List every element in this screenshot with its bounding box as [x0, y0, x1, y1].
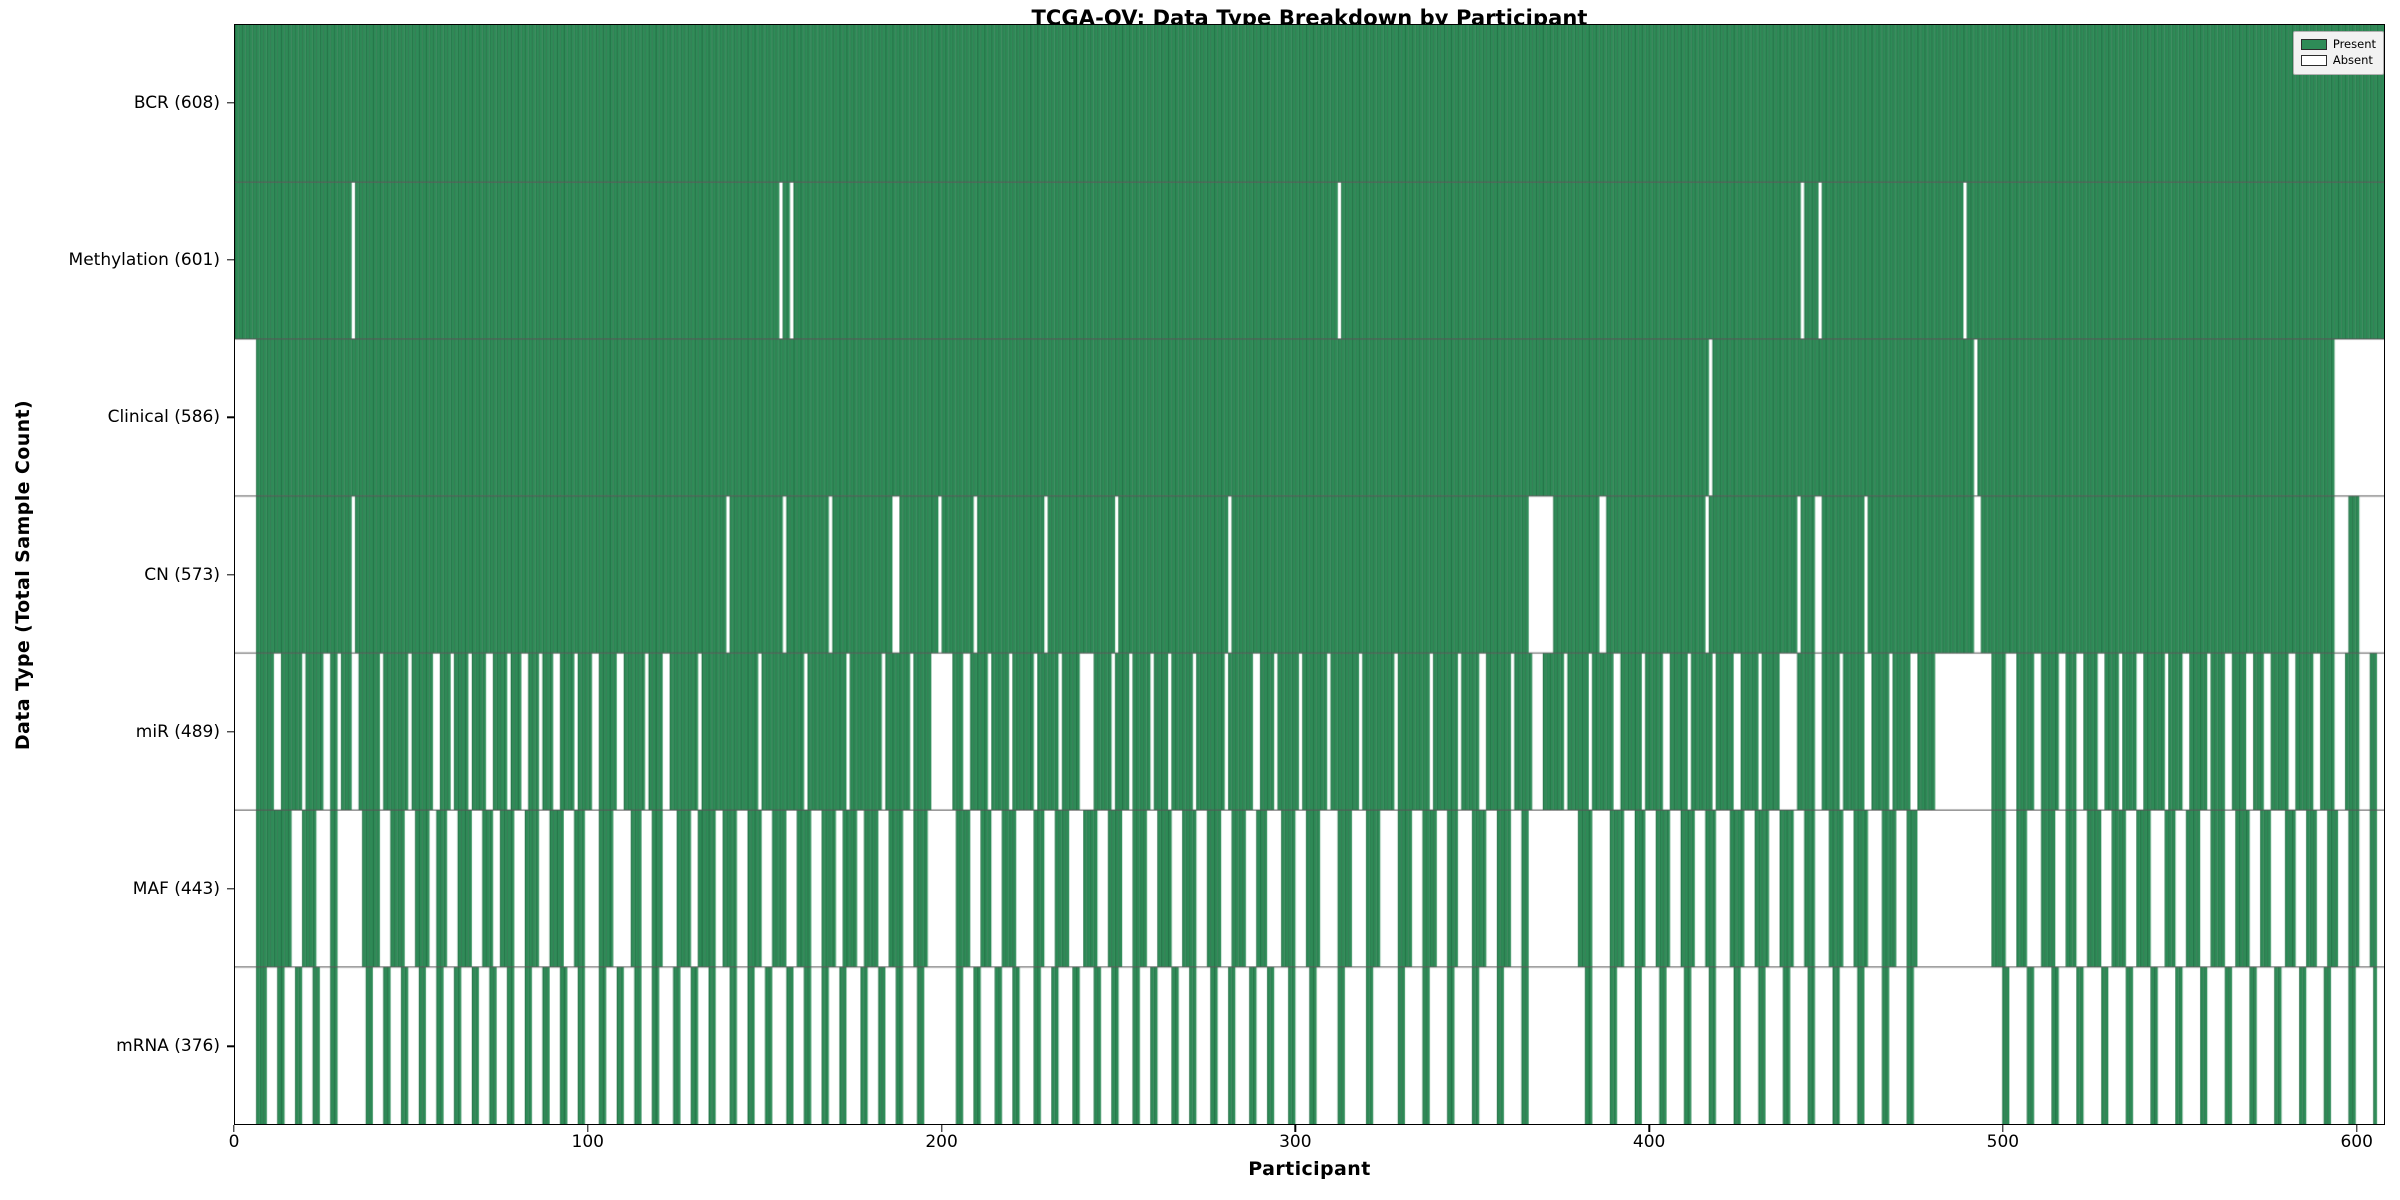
legend-item-present: Present [2301, 37, 2376, 52]
legend-swatch-absent [2301, 55, 2327, 66]
y-tick-label-cn: CN (573) [144, 565, 220, 585]
x-tick-label-0: 0 [229, 1132, 240, 1152]
y-tick-mark-mrna [227, 1046, 234, 1047]
x-tick-mark-600 [2356, 1125, 2357, 1132]
x-tick-label-200: 200 [925, 1132, 957, 1152]
y-axis-tick-group: BCR (608)Methylation (601)Clinical (586)… [0, 24, 234, 1125]
y-tick-mark-cn [227, 574, 234, 575]
y-tick-label-methylation: Methylation (601) [69, 250, 220, 270]
x-tick-mark-500 [2002, 1125, 2003, 1132]
legend-label-present: Present [2333, 39, 2376, 50]
y-tick-label-clinical: Clinical (586) [108, 407, 220, 427]
heatmap-canvas [235, 25, 2384, 1124]
y-tick-label-mrna: mRNA (376) [116, 1036, 220, 1056]
y-tick-mark-bcr [227, 102, 234, 103]
heatmap-plot-area[interactable] [234, 24, 2385, 1125]
x-tick-label-500: 500 [1987, 1132, 2019, 1152]
x-tick-label-600: 600 [2340, 1132, 2372, 1152]
y-tick-mark-methylation [227, 259, 234, 260]
y-tick-mark-maf [227, 888, 234, 889]
y-tick-label-bcr: BCR (608) [134, 93, 220, 113]
x-tick-mark-300 [1295, 1125, 1296, 1132]
x-tick-label-100: 100 [572, 1132, 604, 1152]
legend[interactable]: Present Absent [2293, 31, 2384, 75]
legend-label-absent: Absent [2333, 55, 2373, 66]
x-tick-label-300: 300 [1279, 1132, 1311, 1152]
y-tick-mark-clinical [227, 417, 234, 418]
chart-figure: TCGA-OV: Data Type Breakdown by Particip… [0, 0, 2400, 1200]
x-tick-mark-0 [233, 1125, 234, 1132]
legend-item-absent: Absent [2301, 53, 2376, 68]
x-tick-mark-100 [587, 1125, 588, 1132]
x-tick-label-400: 400 [1633, 1132, 1665, 1152]
y-tick-mark-mir [227, 731, 234, 732]
x-tick-mark-400 [1648, 1125, 1649, 1132]
y-tick-label-maf: MAF (443) [133, 879, 220, 899]
legend-swatch-present [2301, 39, 2327, 50]
y-tick-label-mir: miR (489) [136, 722, 220, 742]
x-axis-title: Participant [234, 1158, 2385, 1180]
x-tick-mark-200 [941, 1125, 942, 1132]
